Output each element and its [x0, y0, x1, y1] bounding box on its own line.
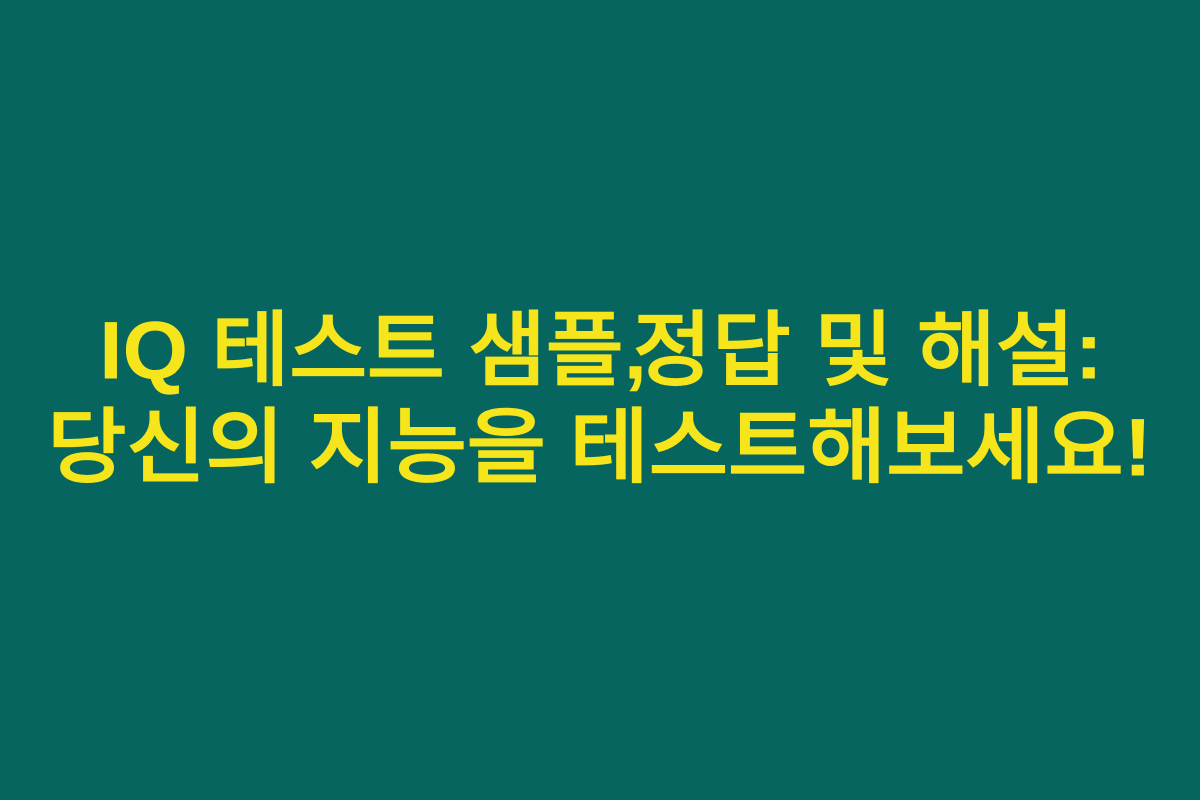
- title-line-2: 정답 및 해설:: [633, 302, 1103, 399]
- page-title: IQ 테스트 샘플, 정답 및 해설: 당신의 지능을 테스트해보세요!: [0, 302, 1200, 496]
- title-card-banner: IQ 테스트 샘플, 정답 및 해설: 당신의 지능을 테스트해보세요!: [0, 0, 1200, 800]
- title-line-1: IQ 테스트 샘플,: [99, 302, 647, 399]
- title-line-3: 당신의 지능을 테스트해보세요!: [47, 399, 1152, 496]
